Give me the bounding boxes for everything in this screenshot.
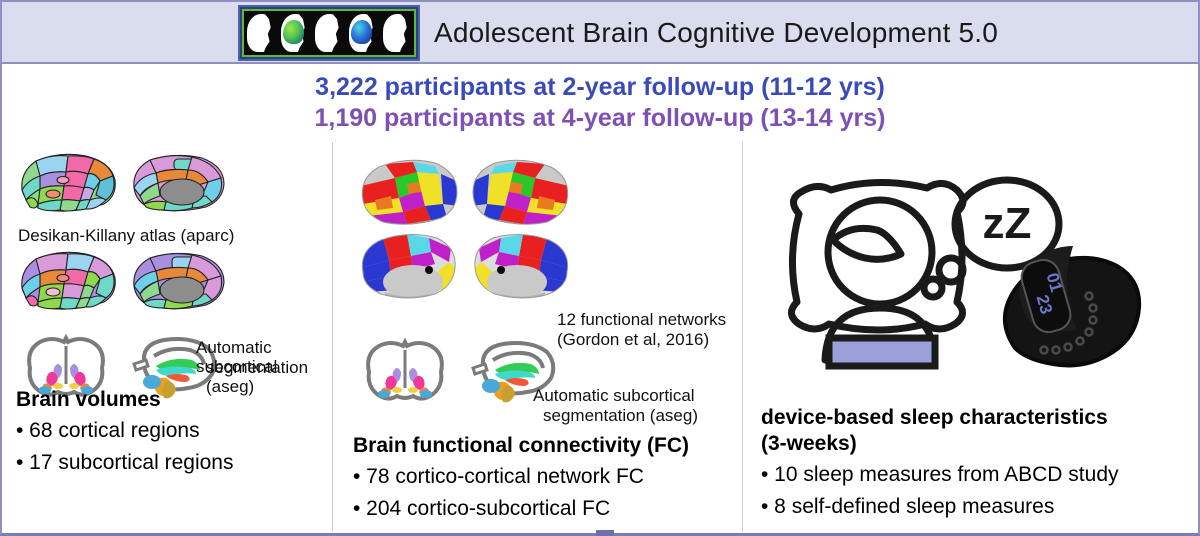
desikan-brain-medial-view <box>126 150 230 218</box>
bottom-tab-marker <box>596 530 614 536</box>
aseg-caption-middle-line1: Automatic subcortical <box>533 386 695 405</box>
sleep-illustration: zZ 01 23 <box>777 148 1177 403</box>
gordon-brain-medial-left <box>355 230 463 306</box>
panel-title-functional-connectivity: Brain functional connectivity (FC) <box>353 434 689 458</box>
logo-head-silhouette-1 <box>244 11 278 55</box>
aseg-caption-middle-line2: segmentation (aseg) <box>543 406 698 425</box>
figure-root: Adolescent Brain Cognitive Development 5… <box>0 0 1200 536</box>
aseg-coronal-slice-middle <box>359 338 451 406</box>
bullet-subcortical-regions: • 17 subcortical regions <box>16 450 233 475</box>
panel-brain-volumes: Desikan-Killany atlas (aparc) <box>2 142 332 532</box>
logo-head-silhouette-2 <box>312 11 346 55</box>
panels-container: Desikan-Killany atlas (aparc) <box>2 142 1198 532</box>
desikan-brain-row-second <box>16 248 230 316</box>
gordon-brain-lateral-left <box>355 156 463 232</box>
gordon-brain-row-medial <box>355 230 575 306</box>
header-banner: Adolescent Brain Cognitive Development 5… <box>2 2 1198 64</box>
aseg-caption-left-line2: segmentation (aseg) <box>206 358 332 396</box>
gordon-brain-row-lateral <box>355 156 575 232</box>
sleep-zz-text: zZ <box>983 199 1032 248</box>
panel-sleep-characteristics: zZ 01 23 <box>742 142 1198 532</box>
bullet-cortical-regions: • 68 cortical regions <box>16 418 200 443</box>
desikan-brain-medial-view-2 <box>126 248 230 316</box>
panel-functional-connectivity: 12 functional networks (Gordon et al, 20… <box>332 142 742 532</box>
bullet-cortico-subcortical-fc: • 204 cortico-subcortical FC <box>353 496 610 521</box>
aseg-image-row-middle <box>359 338 561 406</box>
panel-title-sleep-line1: device-based sleep characteristics <box>761 406 1108 430</box>
bullet-self-defined-sleep-measures: • 8 self-defined sleep measures <box>761 494 1054 519</box>
participants-line-4year: 1,190 participants at 4-year follow-up (… <box>2 103 1198 134</box>
logo-head-brain-green <box>278 11 312 55</box>
abcd-study-logo <box>238 5 420 61</box>
logo-head-brain-blue <box>346 11 380 55</box>
gordon-networks-caption-line1: 12 functional networks <box>557 310 726 329</box>
desikan-brain-lateral-view <box>16 150 120 218</box>
desikan-brain-lateral-view-2 <box>16 248 120 316</box>
panel-title-brain-volumes: Brain volumes <box>16 388 161 412</box>
bullet-sleep-measures-abcd: • 10 sleep measures from ABCD study <box>761 462 1119 487</box>
gordon-brain-medial-right <box>467 230 575 306</box>
bullet-cortico-cortical-fc: • 78 cortico-cortical network FC <box>353 464 644 489</box>
gordon-brain-lateral-right <box>467 156 575 232</box>
logo-head-silhouette-3 <box>380 11 414 55</box>
page-title: Adolescent Brain Cognitive Development 5… <box>434 2 998 64</box>
panel-title-sleep-line2: (3-weeks) <box>761 432 857 456</box>
participants-line-2year: 3,222 participants at 2-year follow-up (… <box>2 72 1198 103</box>
gordon-networks-caption-line2: (Gordon et al, 2016) <box>557 330 709 349</box>
desikan-brain-row-lateral <box>16 150 230 218</box>
desikan-atlas-caption: Desikan-Killany atlas (aparc) <box>18 226 234 245</box>
participants-summary: 3,222 participants at 2-year follow-up (… <box>2 72 1198 133</box>
